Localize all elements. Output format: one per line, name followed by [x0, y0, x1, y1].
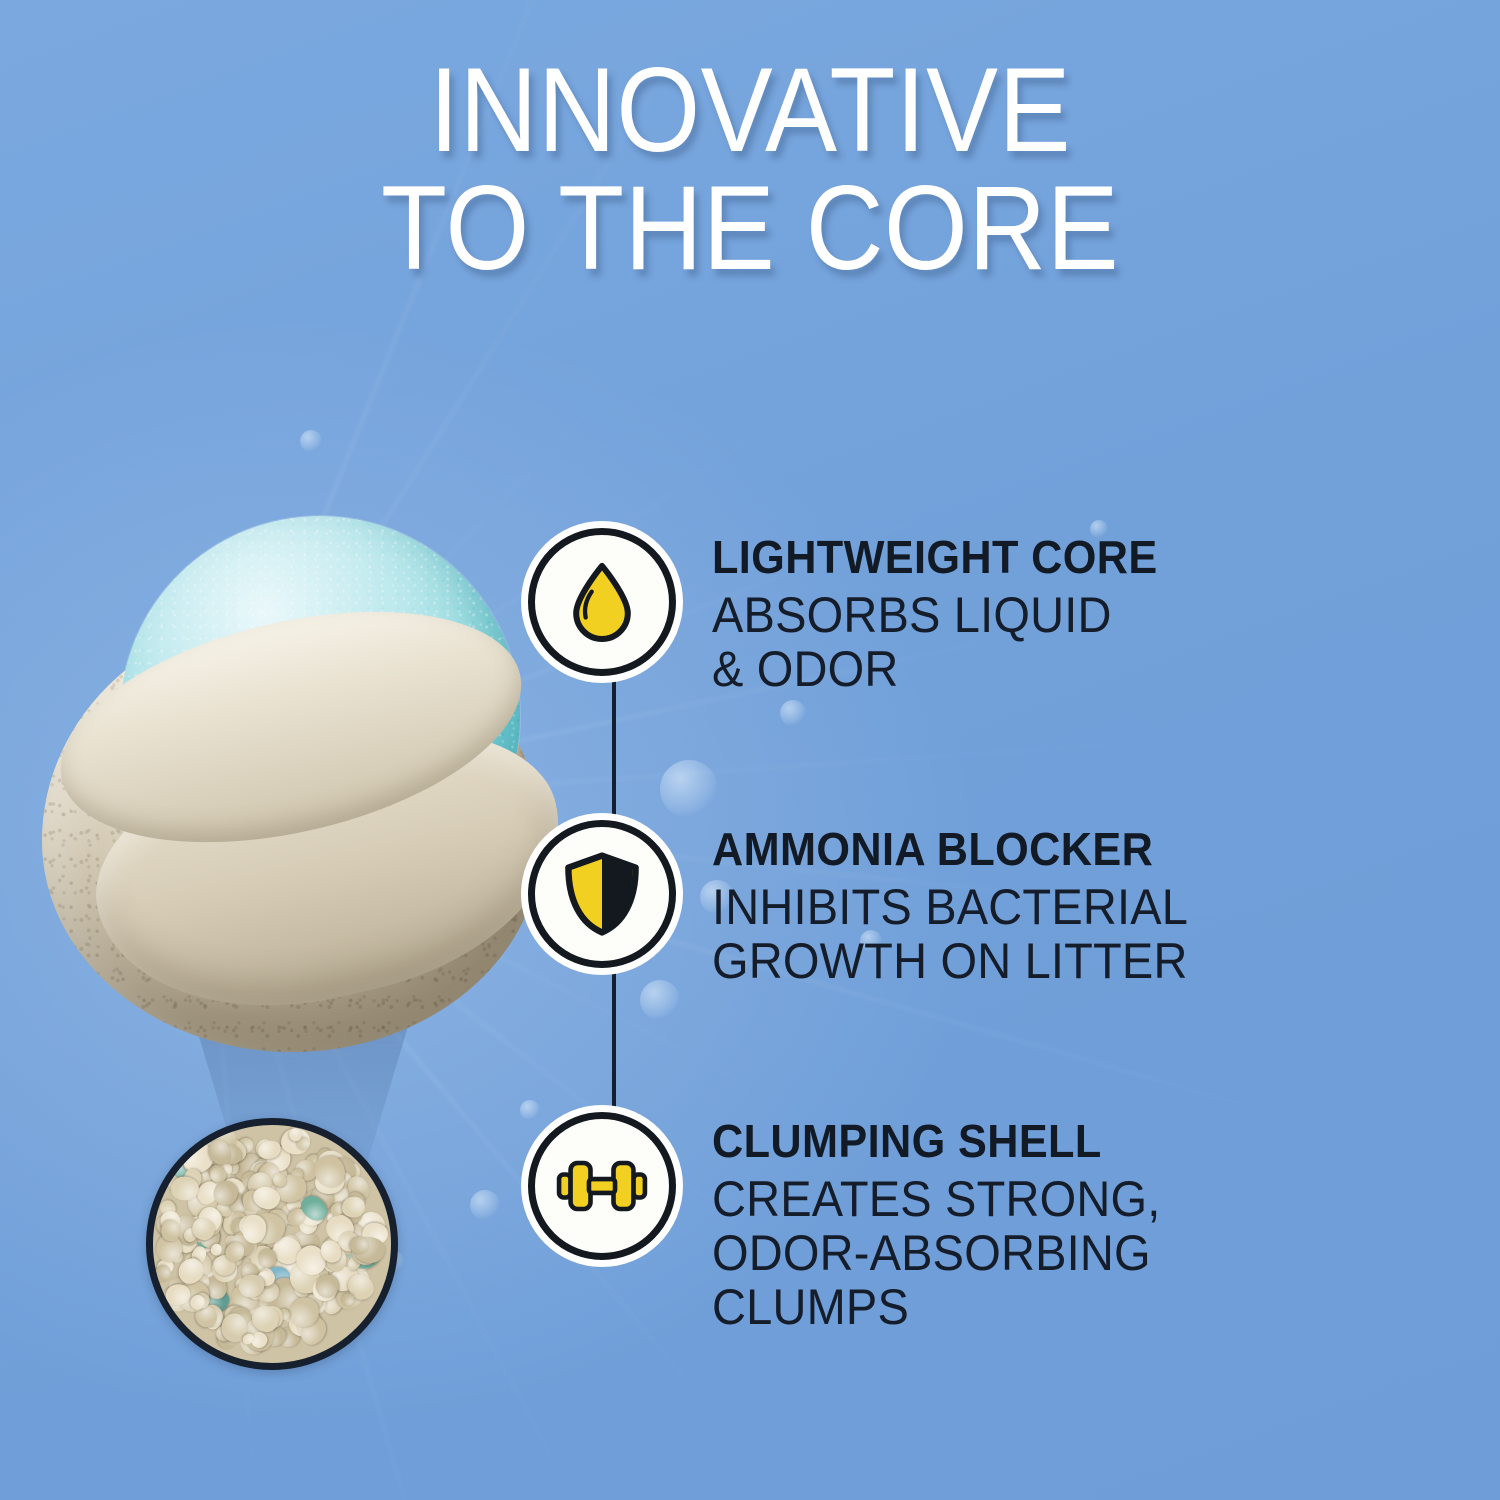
litter-granules-closeup: [146, 1118, 398, 1370]
feature-clumping-shell[interactable]: CLUMPING SHELL CREATES STRONG, ODOR-ABSO…: [528, 1112, 1189, 1334]
feature-body: INHIBITS BACTERIAL GROWTH ON LITTER: [712, 880, 1188, 988]
feature-text-1: LIGHTWEIGHT CORE ABSORBS LIQUID & ODOR: [712, 528, 1186, 696]
feature-ammonia-blocker[interactable]: AMMONIA BLOCKER INHIBITS BACTERIAL GROWT…: [528, 820, 1218, 988]
product-illustration: [34, 500, 594, 1120]
oil-droplet-icon: [528, 528, 676, 676]
infographic-canvas: INNOVATIVE TO THE CORE LIGHTWEIGHT CORE …: [0, 0, 1500, 1500]
shield-icon: [528, 820, 676, 968]
feature-heading: AMMONIA BLOCKER: [712, 826, 1188, 872]
feature-lightweight-core[interactable]: LIGHTWEIGHT CORE ABSORBS LIQUID & ODOR: [528, 528, 1186, 696]
dumbbell-icon: [528, 1112, 676, 1260]
feature-body: ABSORBS LIQUID & ODOR: [712, 588, 1158, 696]
feature-body: CREATES STRONG, ODOR-ABSORBING CLUMPS: [712, 1172, 1160, 1334]
feature-text-2: AMMONIA BLOCKER INHIBITS BACTERIAL GROWT…: [712, 820, 1218, 988]
feature-heading: LIGHTWEIGHT CORE: [712, 534, 1158, 580]
litter-granule: [342, 1196, 365, 1218]
feature-text-3: CLUMPING SHELL CREATES STRONG, ODOR-ABSO…: [712, 1112, 1189, 1334]
page-title: INNOVATIVE TO THE CORE: [75, 52, 1425, 287]
feature-heading: CLUMPING SHELL: [712, 1118, 1160, 1164]
